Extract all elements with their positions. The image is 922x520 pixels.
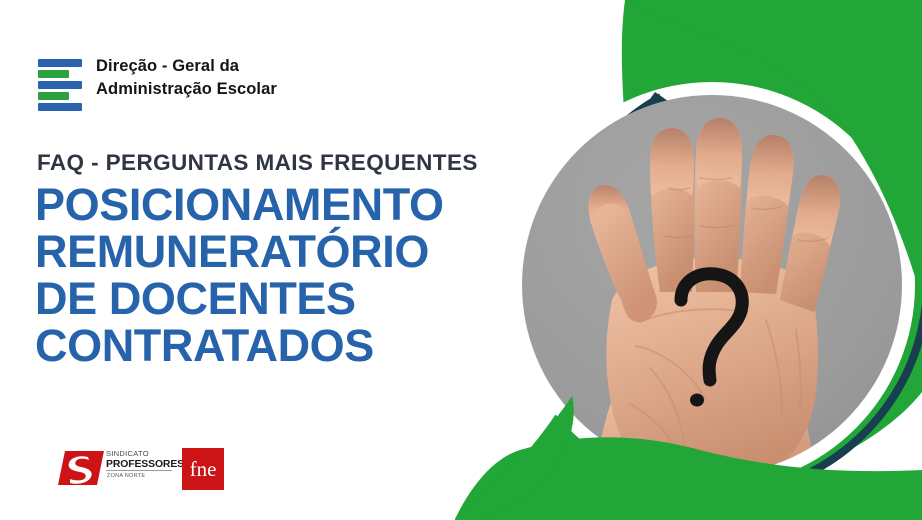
headline-kicker: FAQ - PERGUNTAS MAIS FREQUENTES [37,150,478,176]
dgae-logo-text: Direção - Geral da Administração Escolar [96,55,277,101]
title-line-3: DE DOCENTES [35,275,444,322]
logo-bar-3 [38,81,82,89]
fne-wordmark-icon: fne [182,448,224,490]
logo-bar-2 [38,70,69,78]
spzn-line-2: PROFESSORES [106,459,184,470]
logo-bar-1 [38,59,82,67]
svg-text:fne: fne [190,457,217,481]
spzn-line-1: SINDICATO [106,449,149,458]
sindicato-professores-zona-norte-logo: SINDICATO PROFESSORES ZONA NORTE [58,447,170,489]
dgae-logo-line-2: Administração Escolar [96,78,277,101]
title-line-2: REMUNERATÓRIO [35,228,444,275]
title-line-1: POSICIONAMENTO [35,181,444,228]
logo-bar-5 [38,103,82,111]
fne-logo: fne [182,448,224,490]
poster-canvas: Direção - Geral da Administração Escolar… [0,0,922,520]
spzn-mark-icon [58,449,104,487]
dgae-logo-line-1: Direção - Geral da [96,55,277,78]
title-line-4: CONTRATADOS [35,322,444,369]
page-title: POSICIONAMENTO REMUNERATÓRIO DE DOCENTES… [35,181,444,369]
logo-bar-4 [38,92,69,100]
spzn-wordmark: SINDICATO PROFESSORES ZONA NORTE [106,448,170,488]
spzn-divider [106,470,172,471]
spzn-line-3: ZONA NORTE [107,473,145,479]
dgae-logo: Direção - Geral da Administração Escolar [38,57,270,115]
dgae-logo-bars [38,59,82,113]
